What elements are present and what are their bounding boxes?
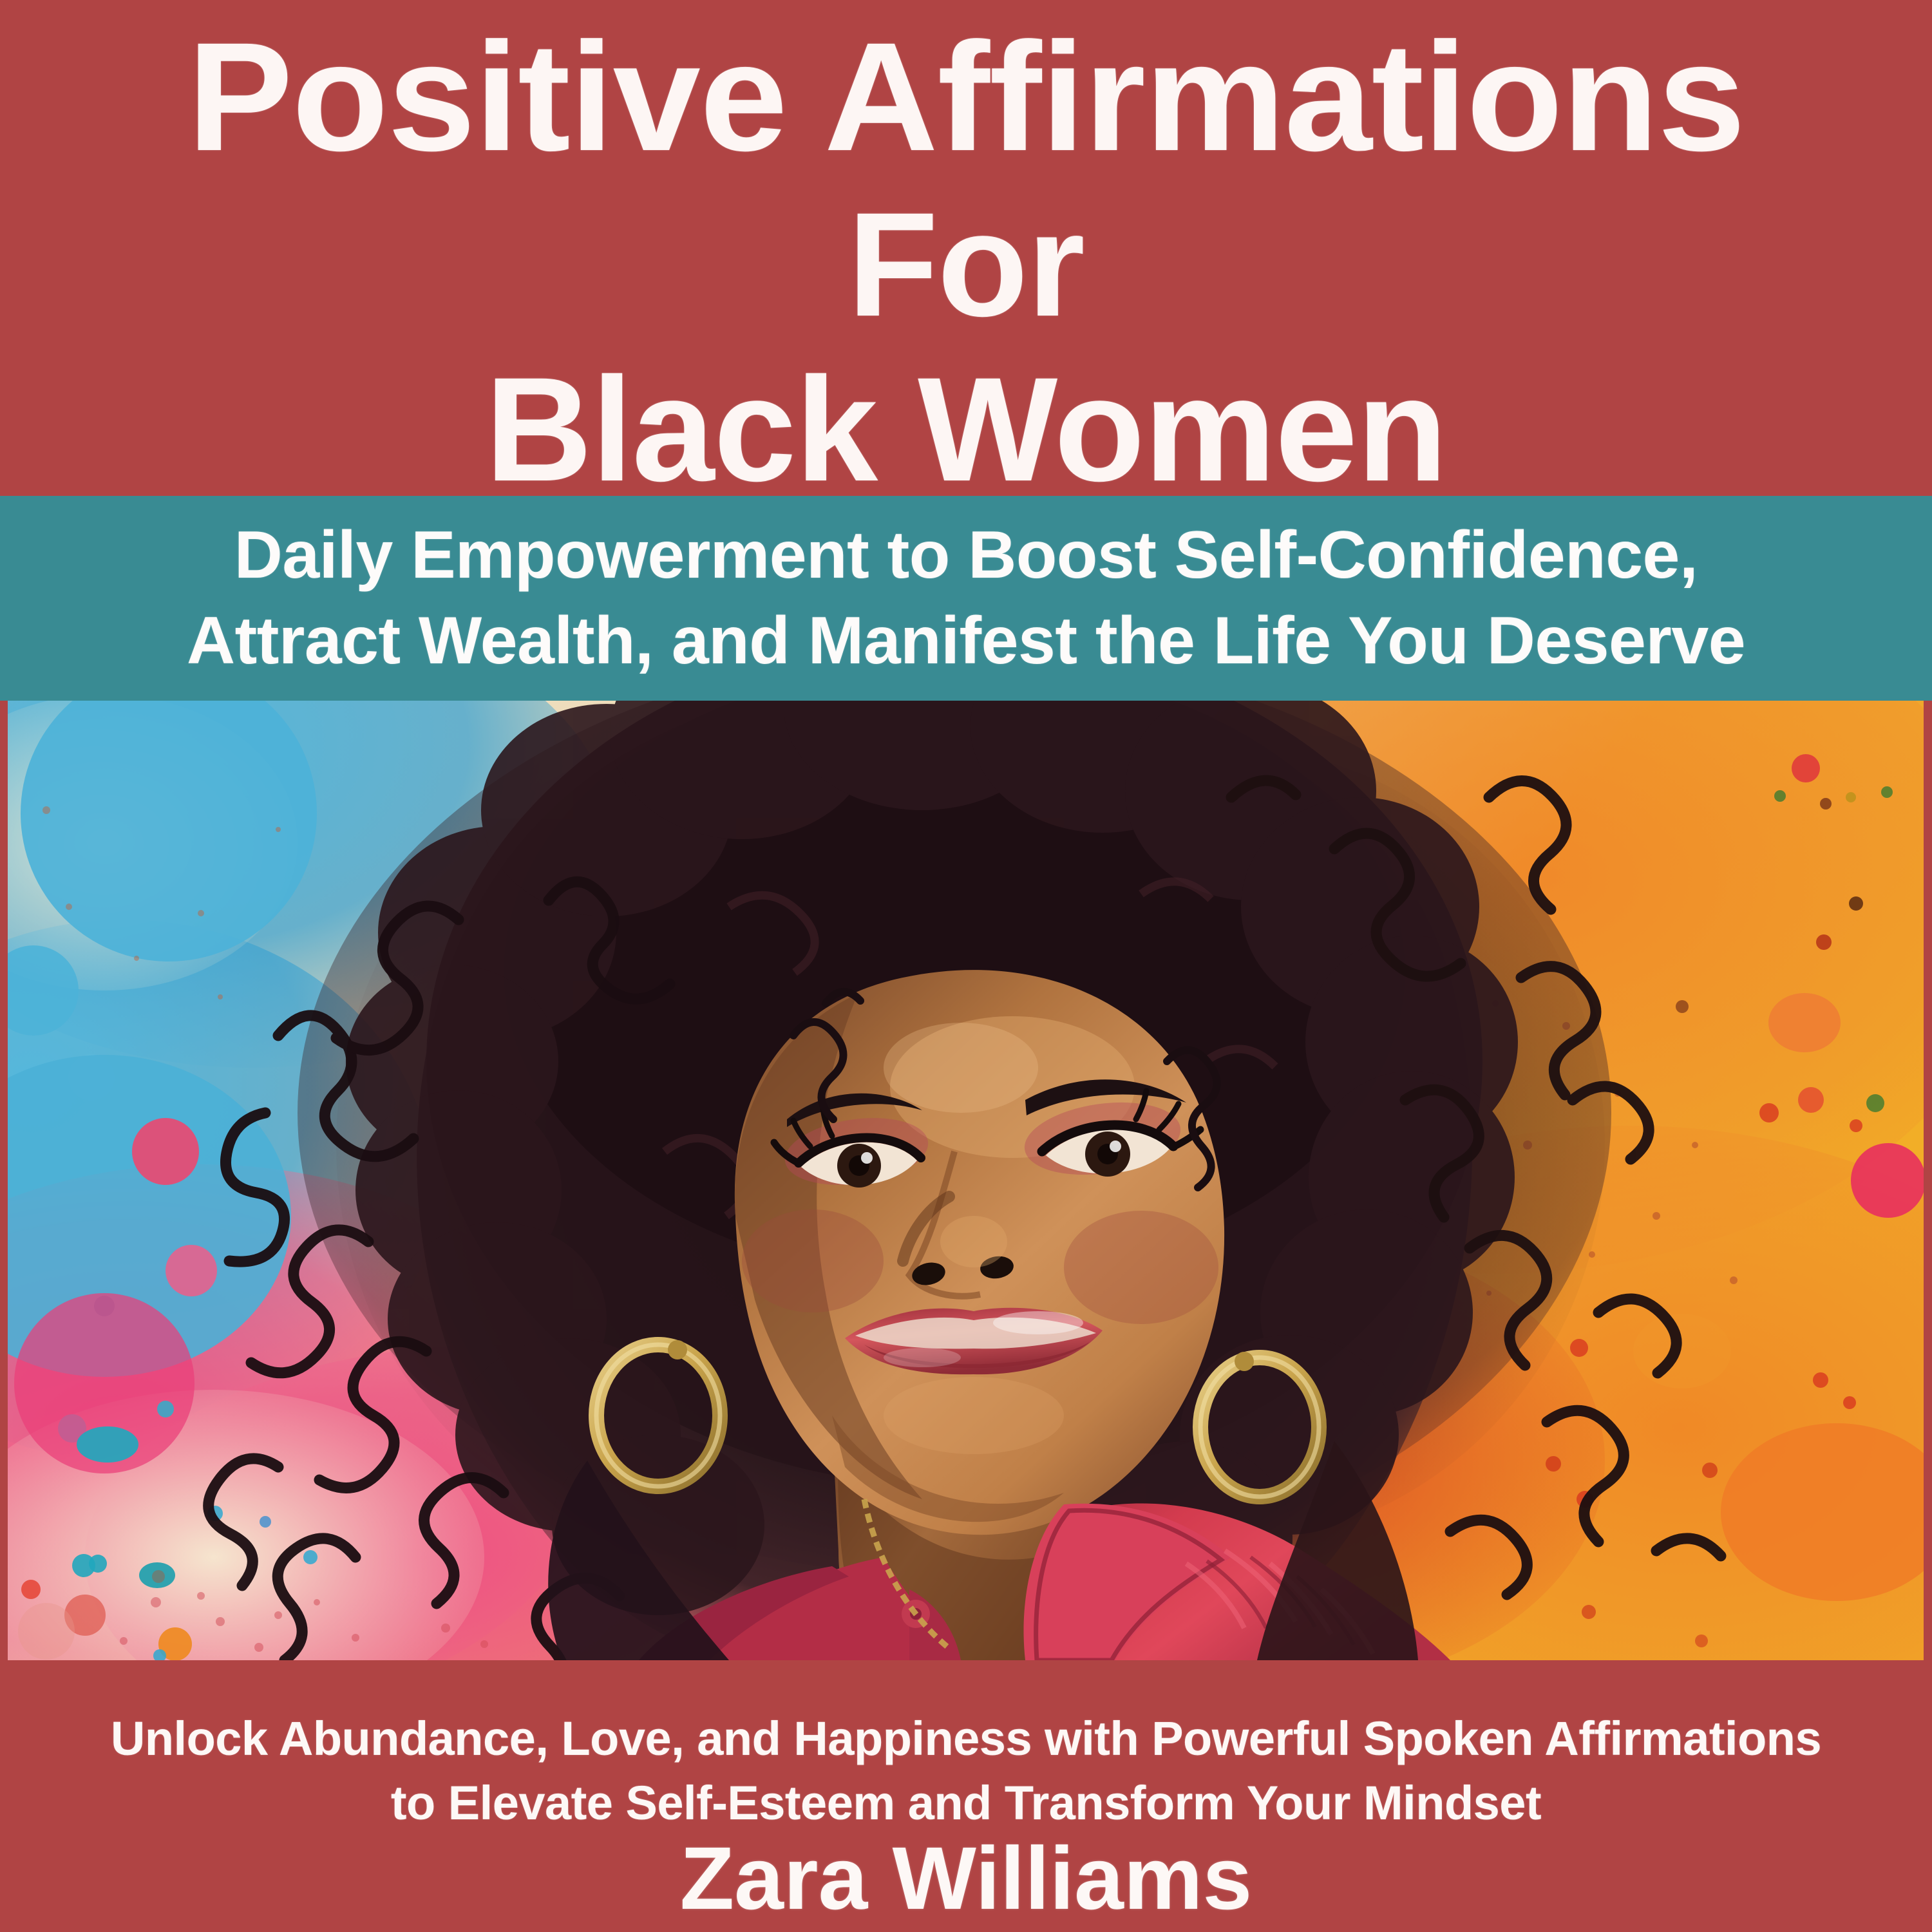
- tagline-line-1: Unlock Abundance, Love, and Happiness wi…: [111, 1707, 1821, 1771]
- subtitle-line-1: Daily Empowerment to Boost Self-Confiden…: [234, 513, 1698, 598]
- title-line-1: Positive Affirmations: [187, 19, 1745, 174]
- tagline-block: Unlock Abundance, Love, and Happiness wi…: [0, 1687, 1932, 1823]
- author-block: Zara Williams: [0, 1828, 1932, 1930]
- cover-artwork: [8, 701, 1924, 1660]
- author-name: Zara Williams: [680, 1829, 1252, 1928]
- title-block: Positive Affirmations For Black Women: [0, 0, 1932, 496]
- title-line-2: For: [848, 191, 1084, 339]
- title-line-3: Black Women: [486, 355, 1447, 504]
- subtitle-band: Daily Empowerment to Boost Self-Confiden…: [0, 496, 1932, 701]
- subtitle-line-2: Attract Wealth, and Manifest the Life Yo…: [187, 598, 1745, 684]
- tagline-line-2: to Elevate Self-Esteem and Transform You…: [391, 1771, 1541, 1835]
- book-cover: Positive Affirmations For Black Women Da…: [0, 0, 1932, 1932]
